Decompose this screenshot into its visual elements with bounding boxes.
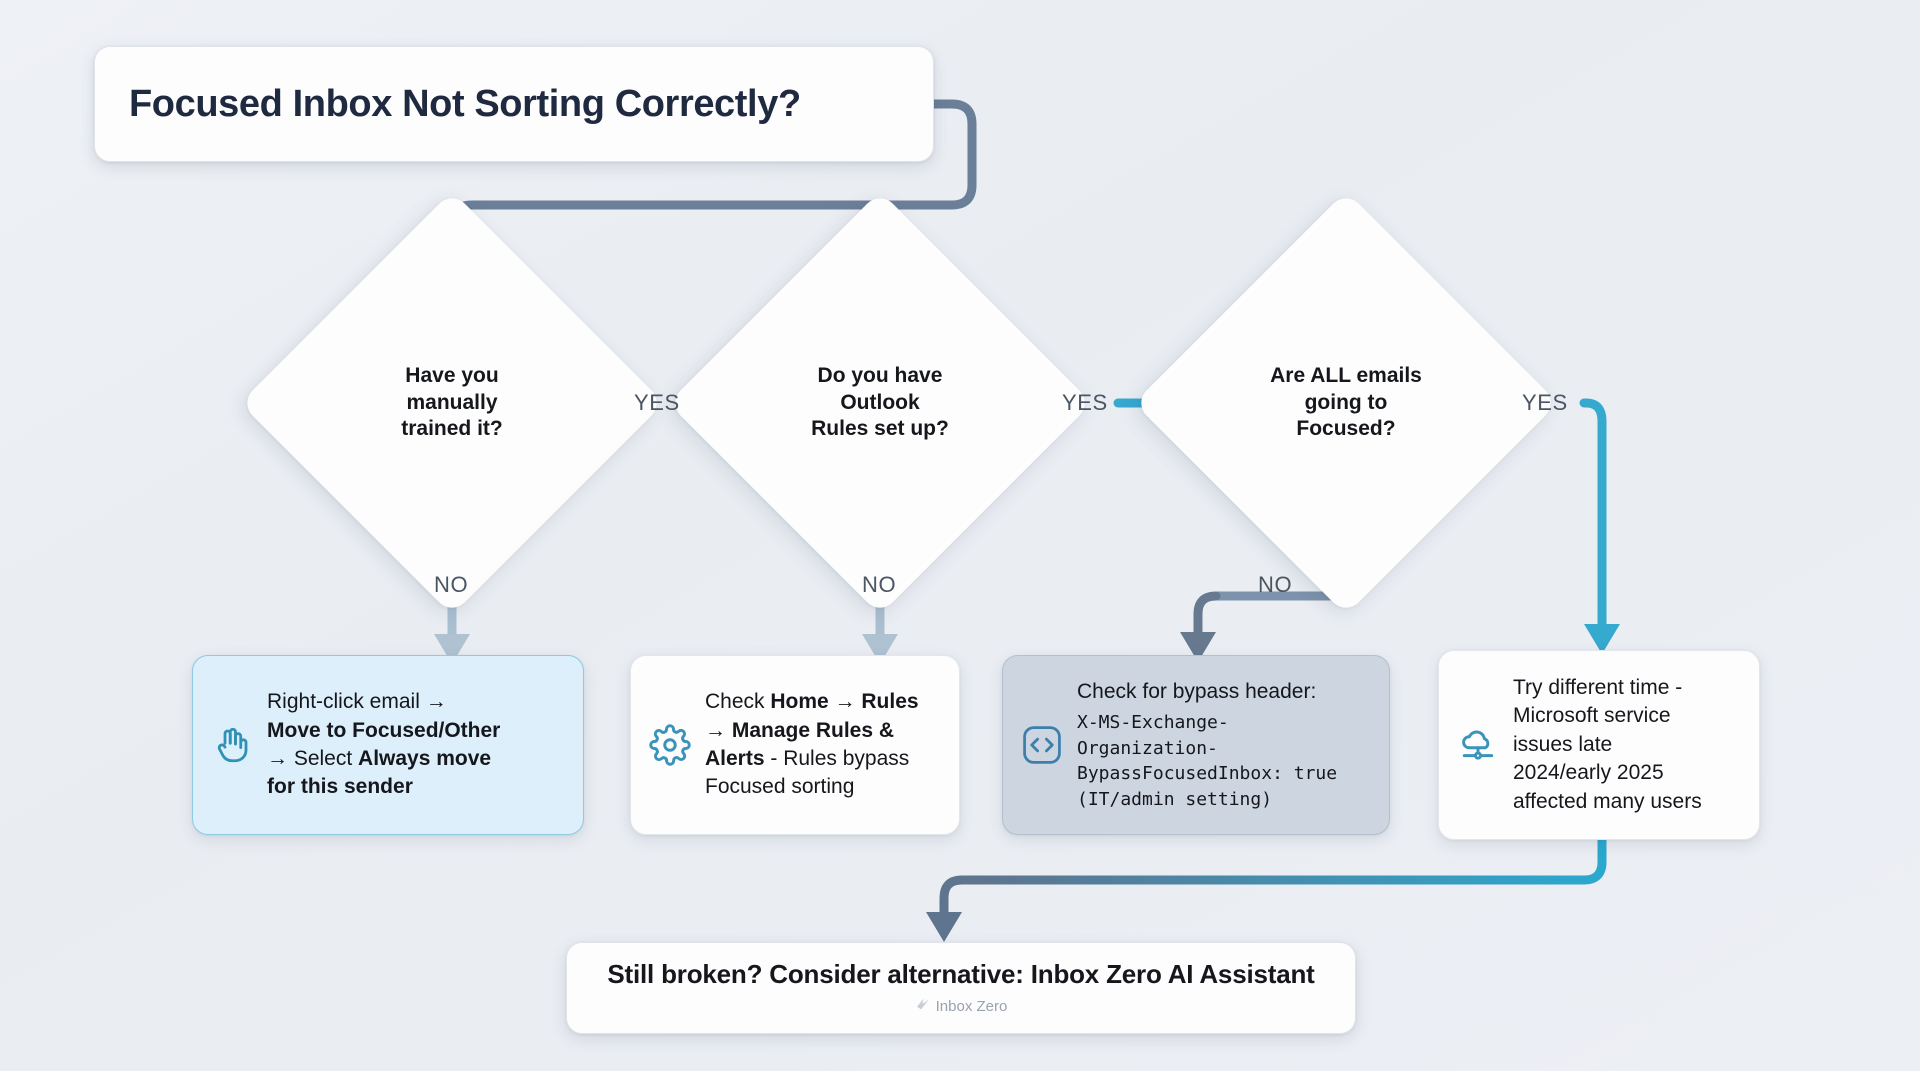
outcome-card-manual-train[interactable]: Right-click email → Move to Focused/Othe… [192,655,584,835]
brand-name: Inbox Zero [936,998,1008,1015]
line-4: 2024/early 2025 [1513,761,1664,784]
gear-icon [645,720,695,770]
edge-label-yes-2: YES [1062,390,1108,416]
brand-lockup: Inbox Zero [915,996,1008,1017]
decision-node-rules[interactable]: Do you have Outlook Rules set up? [730,253,1030,553]
line-2: → Manage Rules & [705,719,894,742]
line-3: Alerts [705,747,765,770]
line-1: Check [705,690,770,713]
bypass-heading: Check for bypass header: [1077,678,1369,706]
outcome-card-outlook-rules[interactable]: Check Home → Rules → Manage Rules & Aler… [630,655,960,835]
cloud-network-icon [1453,720,1503,770]
edge-label-yes-1: YES [634,390,680,416]
decision-label-allmail: Are ALL emails going to Focused? [1196,253,1496,553]
outcome-text-outlook-rules: Check Home → Rules → Manage Rules & Aler… [705,688,919,801]
line-2: Move to Focused/Other [267,719,500,742]
line-1: Try different time - [1513,676,1682,699]
bypass-code: X-MS-Exchange-Organization- BypassFocuse… [1077,710,1369,812]
code-icon [1017,720,1067,770]
edge-label-no-2: NO [862,572,896,598]
line-3-tail: - Rules bypass [765,747,910,770]
footer-card[interactable]: Still broken? Consider alternative: Inbo… [566,942,1356,1034]
line-1: Right-click email → [267,690,447,713]
outcome-card-service-issue[interactable]: Try different time - Microsoft service i… [1438,650,1760,840]
line-3: → Select [267,747,358,770]
line-3-tail: Always move [358,747,491,770]
line-3: issues late [1513,733,1612,756]
footer-text: Still broken? Consider alternative: Inbo… [607,959,1314,990]
connector-card4-to-footer [926,836,1602,942]
line-4: for this sender [267,775,413,798]
outcome-card-bypass-header[interactable]: Check for bypass header: X-MS-Exchange-O… [1002,655,1390,835]
edge-label-no-1: NO [434,572,468,598]
edge-label-yes-3: YES [1522,390,1568,416]
line-5: affected many users [1513,790,1702,813]
decision-label-rules: Do you have Outlook Rules set up? [730,253,1030,553]
page-title: Focused Inbox Not Sorting Correctly? [129,83,801,126]
outcome-text-service-issue: Try different time - Microsoft service i… [1513,674,1702,816]
line-1-tail: Home → Rules [770,690,918,713]
title-card: Focused Inbox Not Sorting Correctly? [94,46,934,162]
line-4: Focused sorting [705,775,854,798]
outcome-text-bypass-header: Check for bypass header: X-MS-Exchange-O… [1077,678,1369,813]
flowchart-canvas: Focused Inbox Not Sorting Correctly? Hav… [0,0,1920,1071]
decision-node-trained[interactable]: Have you manually trained it? [302,253,602,553]
line-2: Microsoft service [1513,704,1671,727]
decision-node-allmail[interactable]: Are ALL emails going to Focused? [1196,253,1496,553]
edge-label-no-3: NO [1258,572,1292,598]
decision-label-trained: Have you manually trained it? [302,253,602,553]
pointer-hand-icon [207,720,257,770]
inbox-zero-logo-icon [915,996,931,1017]
outcome-text-manual-train: Right-click email → Move to Focused/Othe… [267,688,500,801]
